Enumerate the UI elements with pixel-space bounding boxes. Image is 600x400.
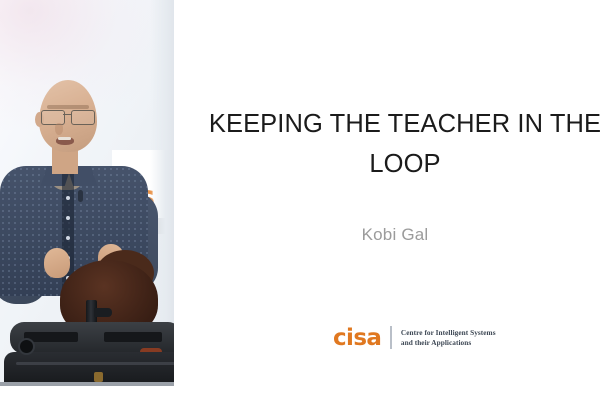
speaker-teeth bbox=[58, 137, 71, 140]
speaker-left-hand bbox=[44, 248, 70, 278]
speaker-shirt-button bbox=[66, 236, 70, 240]
speaker-shirt-button bbox=[66, 196, 70, 200]
speaker-video-feed[interactable]: is bbox=[0, 0, 174, 386]
glasses-bridge bbox=[63, 114, 71, 115]
slide-title: KEEPING THE TEACHER IN THE LOOP bbox=[175, 104, 600, 184]
speaker-brow bbox=[47, 105, 89, 109]
presentation-recording-frame: is bbox=[0, 0, 600, 400]
speaker-nose bbox=[55, 123, 63, 135]
cisa-tagline: Centre for Intelligent Systems and their… bbox=[401, 328, 496, 347]
cisa-wordmark: cisa bbox=[333, 327, 381, 350]
wheelchair-knob bbox=[18, 338, 35, 355]
floor-line bbox=[0, 382, 174, 386]
wheelchair-slot bbox=[104, 332, 162, 342]
wheelchair-badge bbox=[94, 372, 103, 382]
wheelchair-seat-ridge bbox=[16, 362, 174, 365]
cisa-logo: cisa Centre for Intelligent Systems and … bbox=[333, 326, 496, 349]
wheelchair-hook bbox=[94, 308, 112, 317]
speaker-shirt-button bbox=[66, 216, 70, 220]
presentation-slide[interactable]: KEEPING THE TEACHER IN THE LOOP Kobi Gal… bbox=[175, 0, 600, 400]
lapel-microphone bbox=[78, 190, 83, 202]
speaker-glasses bbox=[40, 110, 96, 123]
glasses-lens-right bbox=[71, 110, 95, 125]
wheelchair-seat bbox=[4, 352, 174, 386]
logo-divider bbox=[390, 326, 392, 349]
slide-presenter-name: Kobi Gal bbox=[175, 225, 600, 245]
